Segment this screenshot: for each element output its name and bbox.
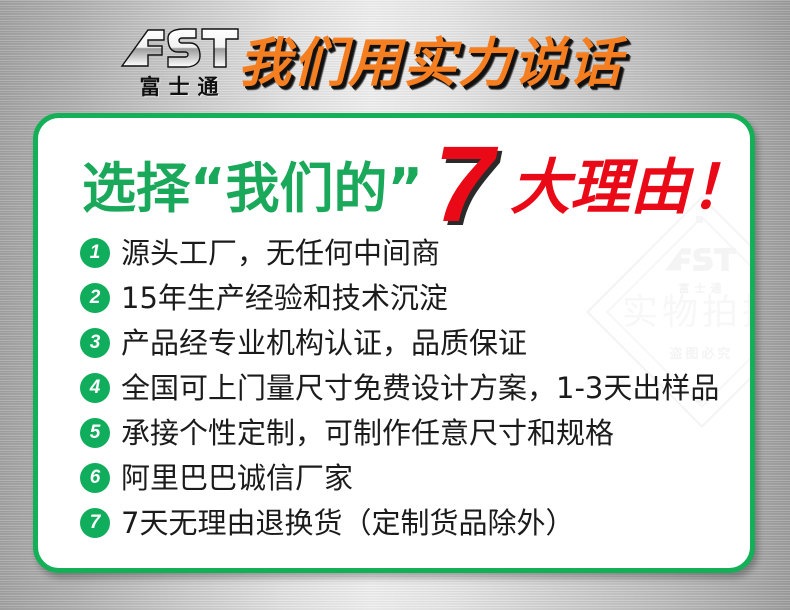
headline-green-text: 选择“我们的” [82,158,423,220]
headline-number-seven: 7 [434,132,494,236]
list-item: 2 15年生产经验和技术沉淀 [80,275,740,320]
list-item: 7 7天无理由退换货（定制货品除外） [80,500,740,545]
list-item: 1 源头工厂，无任何中间商 [80,230,740,275]
reason-badge: 5 [80,418,110,448]
list-item: 4 全国可上门量尺寸免费设计方案，1-3天出样品 [80,365,740,410]
reason-badge: 6 [80,463,110,493]
list-item: 6 阿里巴巴诚信厂家 [80,455,740,500]
reason-text: 产品经专业机构认证，品质保证 [121,326,527,360]
list-item: 3 产品经专业机构认证，品质保证 [80,320,740,365]
reason-text: 15年生产经验和技术沉淀 [121,281,448,315]
brand-logo: 富士通 [118,26,240,102]
reason-text: 源头工厂，无任何中间商 [121,236,440,270]
reason-text: 阿里巴巴诚信厂家 [121,461,353,495]
reason-badge: 3 [80,328,110,358]
reasons-list: 1 源头工厂，无任何中间商 2 15年生产经验和技术沉淀 3 产品经专业机构认证… [80,230,740,545]
reason-badge: 7 [80,508,110,538]
reason-text: 7天无理由退换货（定制货品除外） [121,506,574,540]
headline-red-text: 大理由！ [510,153,750,223]
banner-header: 富士通 我们用实力说话 [0,0,790,113]
brand-logo-cn: 富士通 [118,74,240,100]
reason-badge: 2 [80,283,110,313]
fst-logo-icon [118,26,240,72]
reason-badge: 4 [80,373,110,403]
banner-slogan: 我们用实力说话 [238,33,623,95]
card-headline: 选择“我们的” 7 大理由！ [82,136,722,222]
reason-text: 承接个性定制，可制作任意尺寸和规格 [121,416,614,450]
list-item: 5 承接个性定制，可制作任意尺寸和规格 [80,410,740,455]
reasons-card: 富士通 实物拍摄 盗图必究 选择“我们的” 7 大理由！ 1 源头工厂，无任何中… [33,113,755,573]
reason-text: 全国可上门量尺寸免费设计方案，1-3天出样品 [121,371,719,405]
promo-banner: 富士通 我们用实力说话 富士通 实物拍摄 盗图必究 [0,0,790,610]
reason-badge: 1 [80,238,110,268]
